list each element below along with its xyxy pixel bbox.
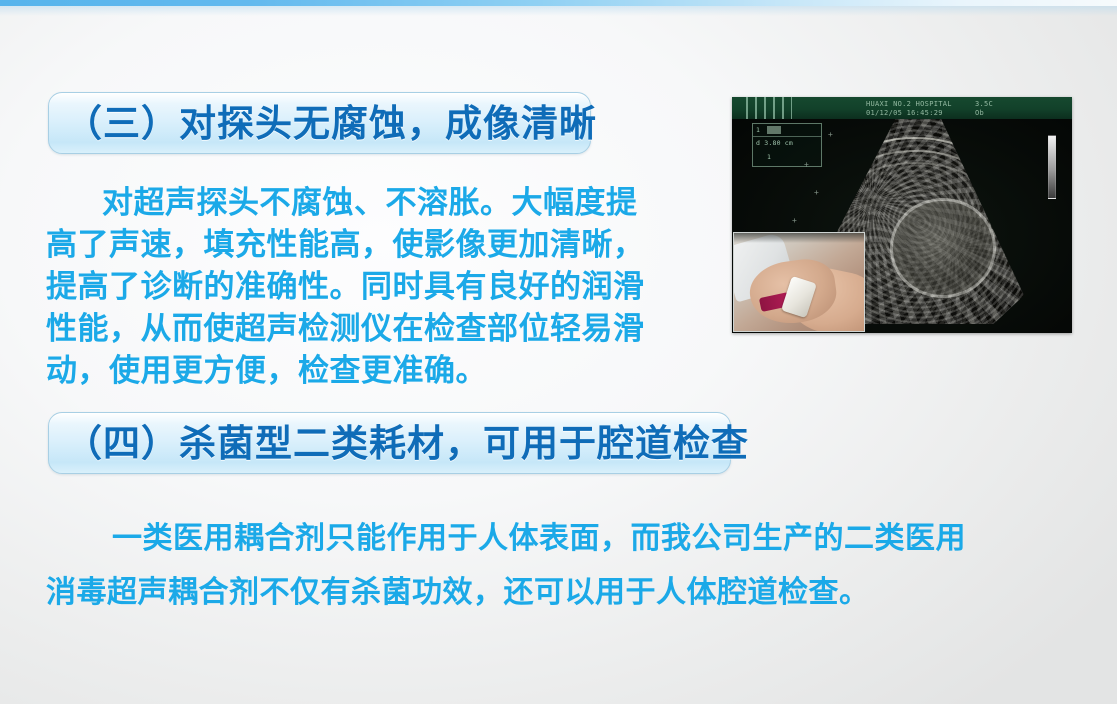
ultrasound-measurement-highlight (767, 126, 781, 134)
ultrasound-datetime-label: 01/12/05 16:45:29 (866, 109, 943, 118)
section-heading-four: （四）杀菌型二类耗材，可用于腔道检查 (48, 412, 731, 474)
ultrasound-caliper-marker: + (792, 217, 797, 225)
ultrasound-caliper-marker: + (828, 131, 833, 139)
ultrasound-grayscale-bar (1048, 135, 1056, 199)
ultrasound-measurement-sublabel: 1 (767, 153, 771, 161)
ultrasound-measurement-label: 1 (756, 126, 760, 134)
ultrasound-probe-label: 3.5C (975, 100, 993, 109)
ultrasound-measurement-box: 1 d 3.80 cm 1 (752, 123, 822, 167)
inset-top-shading (734, 233, 864, 243)
ultrasound-tick-marks (746, 97, 792, 119)
ultrasound-measurement-distance: d 3.80 cm (756, 139, 793, 147)
top-accent-glow (0, 6, 1117, 16)
section-heading-three-label: （三）对探头无腐蚀，成像清晰 (65, 105, 597, 142)
ultrasound-caliper-marker: + (804, 161, 809, 169)
ultrasound-mode-label: Ob (975, 109, 984, 118)
ultrasound-hospital-label: HUAXI NO.2 HOSPITAL (866, 100, 952, 109)
section-body-four: 一类医用耦合剂只能作用于人体表面，而我公司生产的二类医用消毒超声耦合剂不仅有杀菌… (46, 512, 981, 620)
ultrasound-measurement-divider (753, 136, 821, 137)
ultrasound-anatomy-structure (893, 201, 993, 295)
section-heading-three: （三）对探头无腐蚀，成像清晰 (48, 92, 591, 154)
ultrasound-caliper-marker: + (814, 189, 819, 197)
section-heading-four-label: （四）杀菌型二类耗材，可用于腔道检查 (65, 425, 749, 462)
section-body-three: 对超声探头不腐蚀、不溶胀。大幅度提高了声速，填充性能高，使影像更加清晰，提高了诊… (46, 182, 661, 392)
slide-canvas: （三）对探头无腐蚀，成像清晰 对超声探头不腐蚀、不溶胀。大幅度提高了声速，填充性… (0, 0, 1117, 704)
ultrasound-inset-photo (733, 232, 865, 332)
ultrasound-image: HUAXI NO.2 HOSPITAL 01/12/05 16:45:29 3.… (732, 97, 1072, 333)
